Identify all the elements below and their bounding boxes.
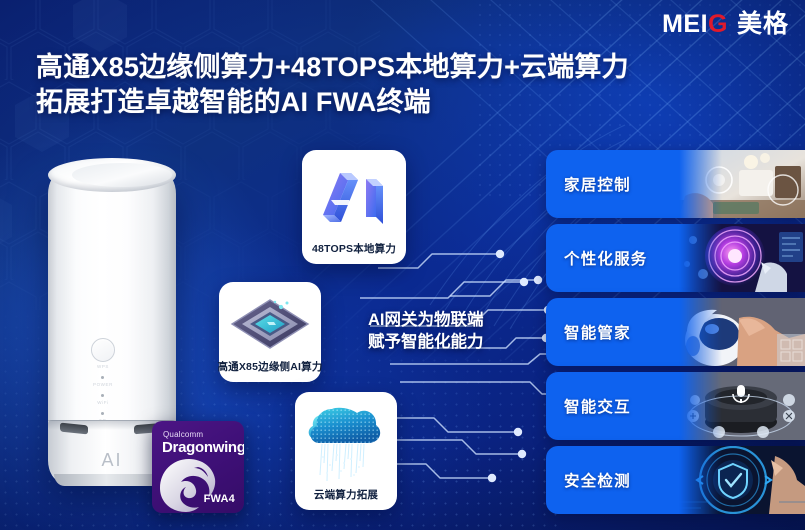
page-title: 高通X85边缘侧算力+48TOPS本地算力+云端算力 拓展打造卓越智能的AI F… [36,50,629,120]
router-top-cap [48,158,176,192]
feature-card-label: 高通X85边缘侧AI算力 [217,359,322,382]
security-shield-thumb [679,446,805,514]
capability-item-smart-interaction[interactable]: 智能交互 [546,372,805,440]
logo-wordmark: MEIG [662,12,728,37]
gateway-line-2: 赋予智能化能力 [368,331,484,353]
capability-label: 安全检测 [564,469,631,491]
capability-item-smart-butler[interactable]: 智能管家 [546,298,805,366]
feature-card-label: 云端算力拓展 [314,487,378,510]
capability-label: 智能管家 [564,321,631,343]
brand-logo: MEIG 美格 [662,12,789,37]
router-led-label-wifi: WiFi [68,400,138,405]
feature-card-label: 48TOPS本地算力 [312,241,396,264]
router-button-label: WPS [68,364,138,369]
capability-item-personalized-service[interactable]: 个性化服务 [546,224,805,292]
qualcomm-dragonwing-badge: Qualcomm Dragonwing FWA4 [152,421,244,513]
logo-text: MEI [662,12,708,37]
capability-label: 个性化服务 [564,247,648,269]
capability-label: 家居控制 [564,173,631,195]
logo-chinese-name: 美格 [737,12,789,37]
voice-assistant-speaker-thumb [679,372,805,440]
headline-line-1: 高通X85边缘侧算力+48TOPS本地算力+云端算力 [36,50,629,85]
cloud-rain-icon [304,400,388,487]
router-led-label-power: POWER [68,382,138,387]
gateway-description: AI网关为物联端 赋予智能化能力 [368,309,484,354]
qualcomm-model-label: FWA4 [204,493,235,505]
service-robot-thumb [679,298,805,366]
router-top-inner [72,163,172,187]
headline-line-2: 拓展打造卓越智能的AI FWA终端 [36,85,629,120]
smart-home-living-room-thumb [679,150,805,218]
feature-card-local-compute: 48TOPS本地算力 [302,150,406,264]
feature-card-cloud-compute: 云端算力拓展 [295,392,397,510]
poster-canvas: MEIG 美格 高通X85边缘侧算力+48TOPS本地算力+云端算力 拓展打造卓… [0,0,805,530]
holographic-interface-thumb [679,224,805,292]
router-wps-button [91,338,115,362]
capability-item-security-detection[interactable]: 安全检测 [546,446,805,514]
dragonwing-family-label: Dragonwing [162,439,244,456]
gateway-line-1: AI网关为物联端 [368,309,484,331]
logo-accent-letter: G [708,12,728,37]
chip-isometric-icon [229,290,311,359]
capability-item-home-control[interactable]: 家居控制 [546,150,805,218]
capability-label: 智能交互 [564,395,631,417]
capability-list: 家居控制 [546,150,805,514]
feature-card-edge-compute: 高通X85边缘侧AI算力 [219,282,321,382]
ai-3d-icon [318,158,390,241]
qualcomm-brand-label: Qualcomm [163,430,203,439]
